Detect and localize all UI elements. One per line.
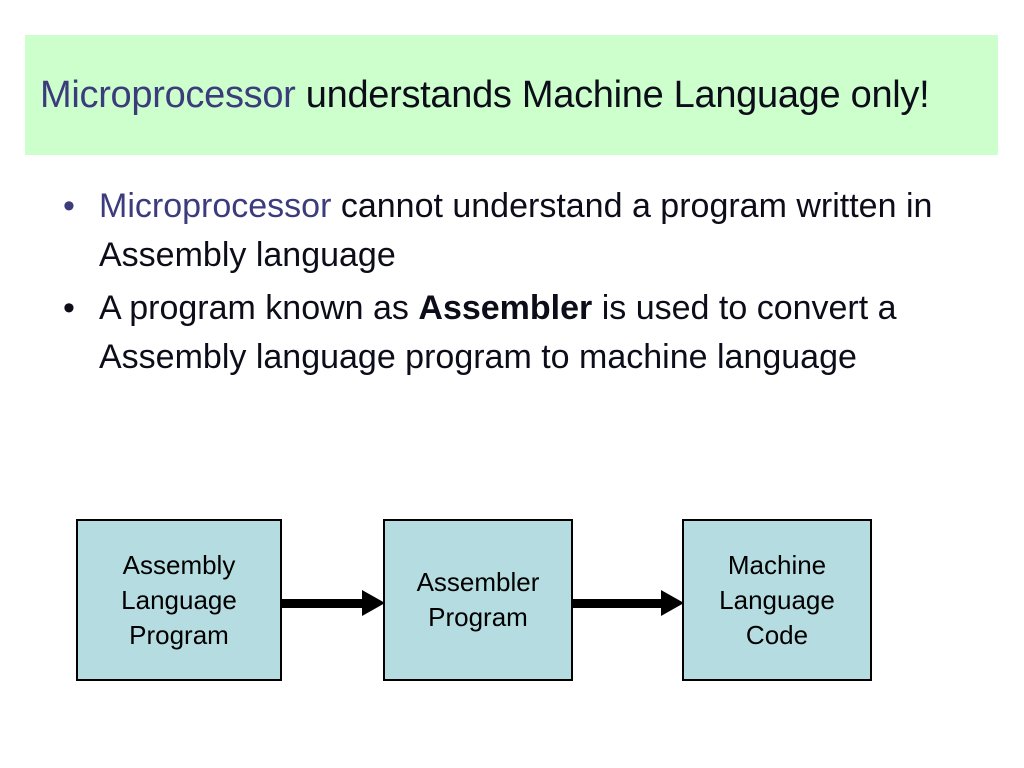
bullet-text-1: Microprocessor cannot understand a progr… xyxy=(99,182,939,280)
bullet-list: • Microprocessor cannot understand a pro… xyxy=(55,182,975,386)
bullet-item-1: • Microprocessor cannot understand a pro… xyxy=(55,182,975,280)
flow-arrow-right-icon xyxy=(573,590,684,616)
flow-box-line: Program xyxy=(428,600,528,635)
title-banner: Microprocessor understands Machine Langu… xyxy=(25,35,998,155)
slide-title: Microprocessor understands Machine Langu… xyxy=(40,73,929,117)
flow-box-line: Assembler xyxy=(417,565,540,600)
arrow-shaft xyxy=(573,599,663,608)
bullet-marker-icon: • xyxy=(55,284,99,333)
bullet-bold-word: Assembler xyxy=(418,289,592,327)
title-accent-word: Microprocessor xyxy=(40,74,296,116)
slide-canvas: Microprocessor understands Machine Langu… xyxy=(0,0,1024,768)
bullet-marker-icon: • xyxy=(55,182,99,231)
flow-box-machine-language-code[interactable]: Machine Language Code xyxy=(682,519,872,681)
flow-box-line: Assembly xyxy=(123,548,236,583)
flow-arrow-right-icon xyxy=(282,590,385,616)
bullet-text-before-bold: A program known as xyxy=(99,289,418,327)
flow-box-line: Code xyxy=(746,618,808,653)
arrow-head xyxy=(362,590,385,616)
flow-box-assembly-language-program[interactable]: Assembly Language Program xyxy=(76,519,282,681)
arrow-shaft xyxy=(282,599,364,608)
flow-box-assembler-program[interactable]: Assembler Program xyxy=(383,519,573,681)
arrow-head xyxy=(661,590,684,616)
title-rest-text: understands Machine Language only! xyxy=(296,74,930,116)
flow-box-line: Machine xyxy=(728,548,826,583)
flow-box-line: Language xyxy=(121,583,237,618)
bullet-text-2: A program known as Assembler is used to … xyxy=(99,284,939,382)
flow-box-line: Language xyxy=(719,583,835,618)
flow-box-line: Program xyxy=(129,618,229,653)
bullet-accent-word: Microprocessor xyxy=(99,187,331,225)
bullet-item-2: • A program known as Assembler is used t… xyxy=(55,284,975,382)
